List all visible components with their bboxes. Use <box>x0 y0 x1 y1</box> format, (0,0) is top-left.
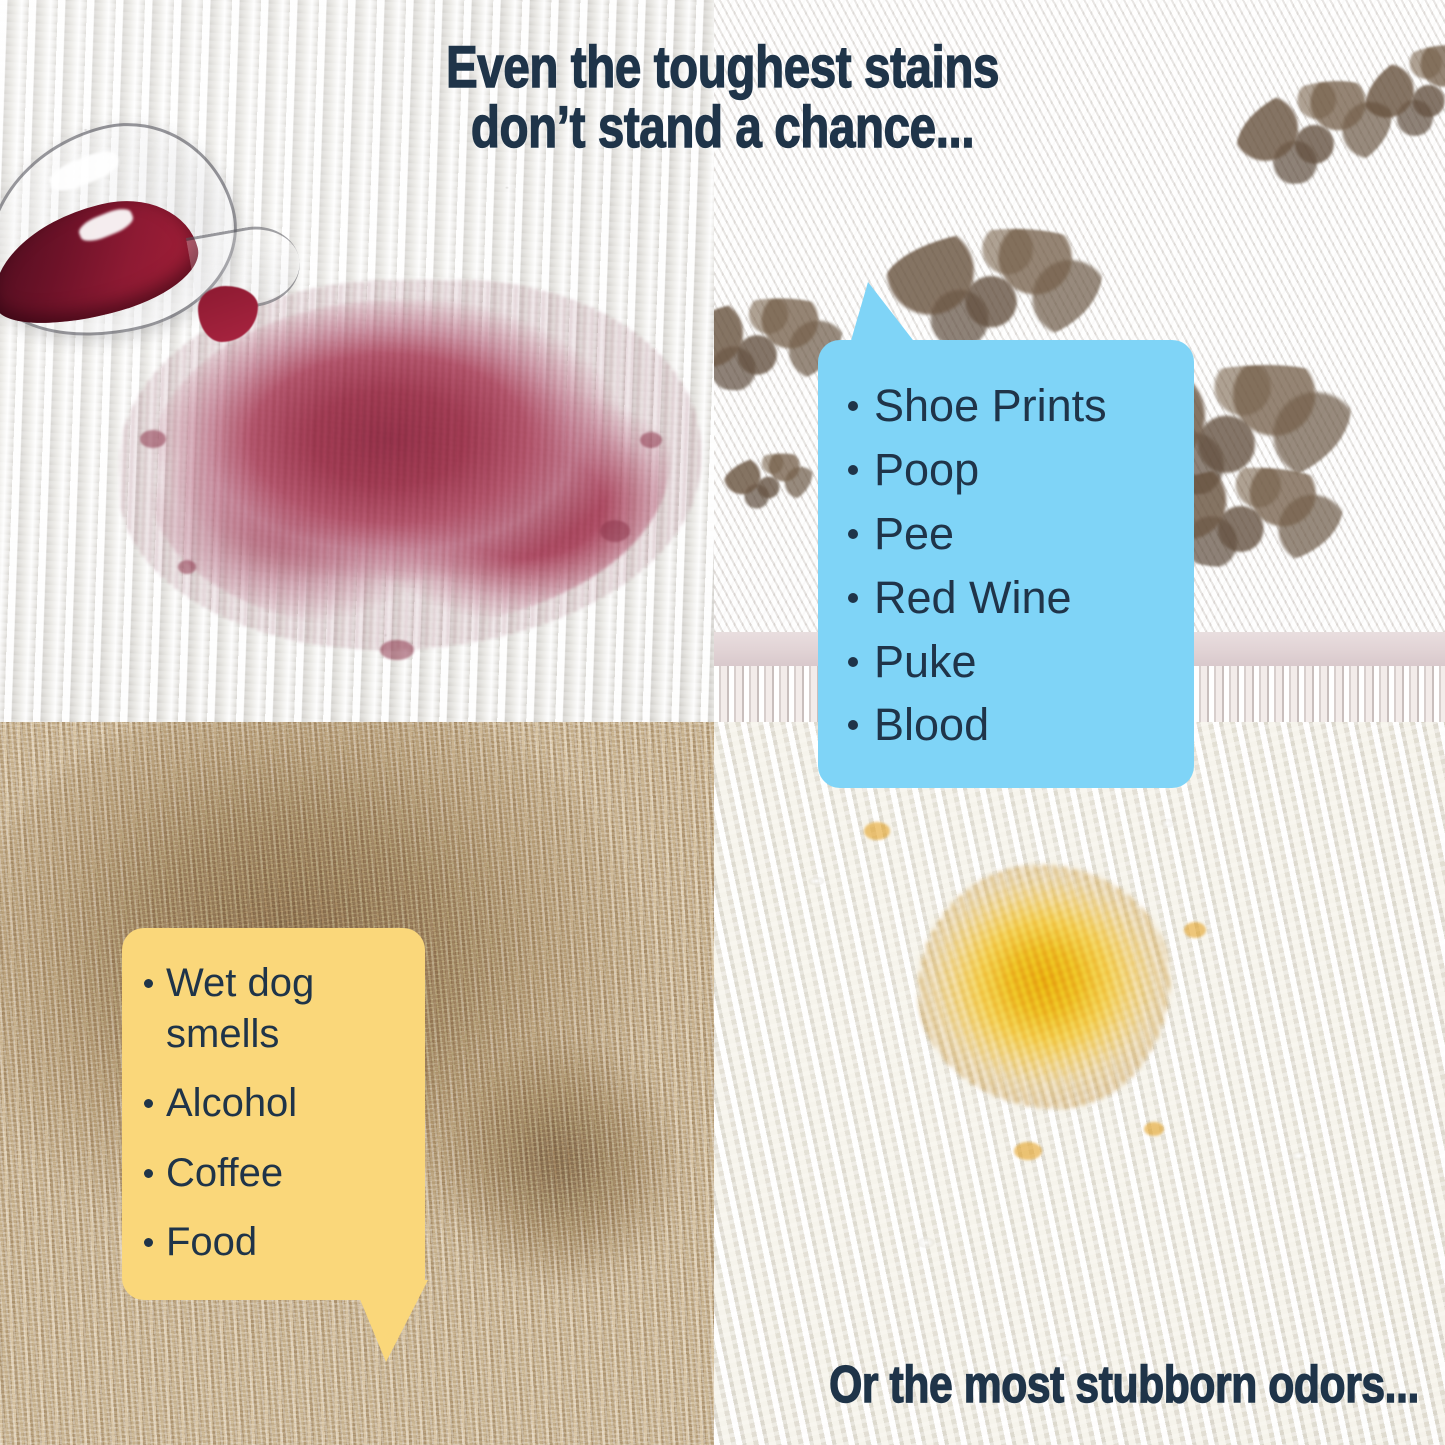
stains-item-label: Pee <box>874 502 954 566</box>
odors-callout: Wet dog smells Alcohol Coffee Food <box>122 928 425 1300</box>
list-item: Coffee <box>144 1148 411 1199</box>
wine-splatter-dot <box>380 640 414 660</box>
bullet-dot-icon <box>144 1099 153 1108</box>
stains-callout: Shoe Prints Poop Pee Red Wine Puke Blood <box>818 340 1194 788</box>
panel-food-stain-white-carpet <box>714 722 1445 1445</box>
bullet-dot-icon <box>144 979 153 988</box>
list-item: Puke <box>848 630 1172 694</box>
food-stain-fleck <box>1184 922 1206 938</box>
bullet-dot-icon <box>848 720 858 730</box>
stains-item-label: Blood <box>874 693 989 757</box>
stains-item-label: Puke <box>874 630 977 694</box>
list-item: Food <box>144 1217 411 1268</box>
food-stain-fleck <box>864 822 890 840</box>
list-item: Alcohol <box>144 1078 411 1129</box>
list-item: Poop <box>848 438 1172 502</box>
headline-bottom: Or the most stubborn odors... <box>255 1359 1419 1413</box>
bullet-dot-icon <box>144 1238 153 1247</box>
bullet-dot-icon <box>848 657 858 667</box>
stains-callout-tail-icon <box>846 282 916 344</box>
bullet-dot-icon <box>848 465 858 475</box>
odors-item-label: Alcohol <box>166 1078 297 1129</box>
bullet-dot-icon <box>848 401 858 411</box>
food-stain-fleck <box>1144 1122 1164 1136</box>
stains-item-label: Poop <box>874 438 979 502</box>
product-infographic-poster: Even the toughest stains don’t stand a c… <box>0 0 1445 1445</box>
wine-splatter-dot <box>178 560 196 574</box>
stains-item-label: Shoe Prints <box>874 374 1107 438</box>
bullet-dot-icon <box>144 1169 153 1178</box>
odors-list: Wet dog smells Alcohol Coffee Food <box>144 958 411 1268</box>
odors-item-label: Coffee <box>166 1148 283 1199</box>
bullet-dot-icon <box>848 529 858 539</box>
list-item: Pee <box>848 502 1172 566</box>
bullet-dot-icon <box>848 593 858 603</box>
headline-top-line-1: Even the toughest stains <box>130 38 1315 98</box>
tipped-wine-glass <box>0 110 310 440</box>
headline-top-line-2: don’t stand a chance... <box>130 98 1315 158</box>
headline-top: Even the toughest stains don’t stand a c… <box>130 38 1315 157</box>
odors-item-label: Wet dog smells <box>166 958 411 1060</box>
wine-splatter-dot <box>640 432 662 448</box>
wine-pour-drip <box>198 286 258 342</box>
list-item: Wet dog smells <box>144 958 411 1060</box>
stains-list: Shoe Prints Poop Pee Red Wine Puke Blood <box>848 374 1172 757</box>
food-stain-fleck <box>1014 1142 1042 1160</box>
stains-item-label: Red Wine <box>874 566 1072 630</box>
list-item: Shoe Prints <box>848 374 1172 438</box>
list-item: Red Wine <box>848 566 1172 630</box>
list-item: Blood <box>848 693 1172 757</box>
odors-item-label: Food <box>166 1217 257 1268</box>
wine-splatter-dot <box>600 520 630 542</box>
